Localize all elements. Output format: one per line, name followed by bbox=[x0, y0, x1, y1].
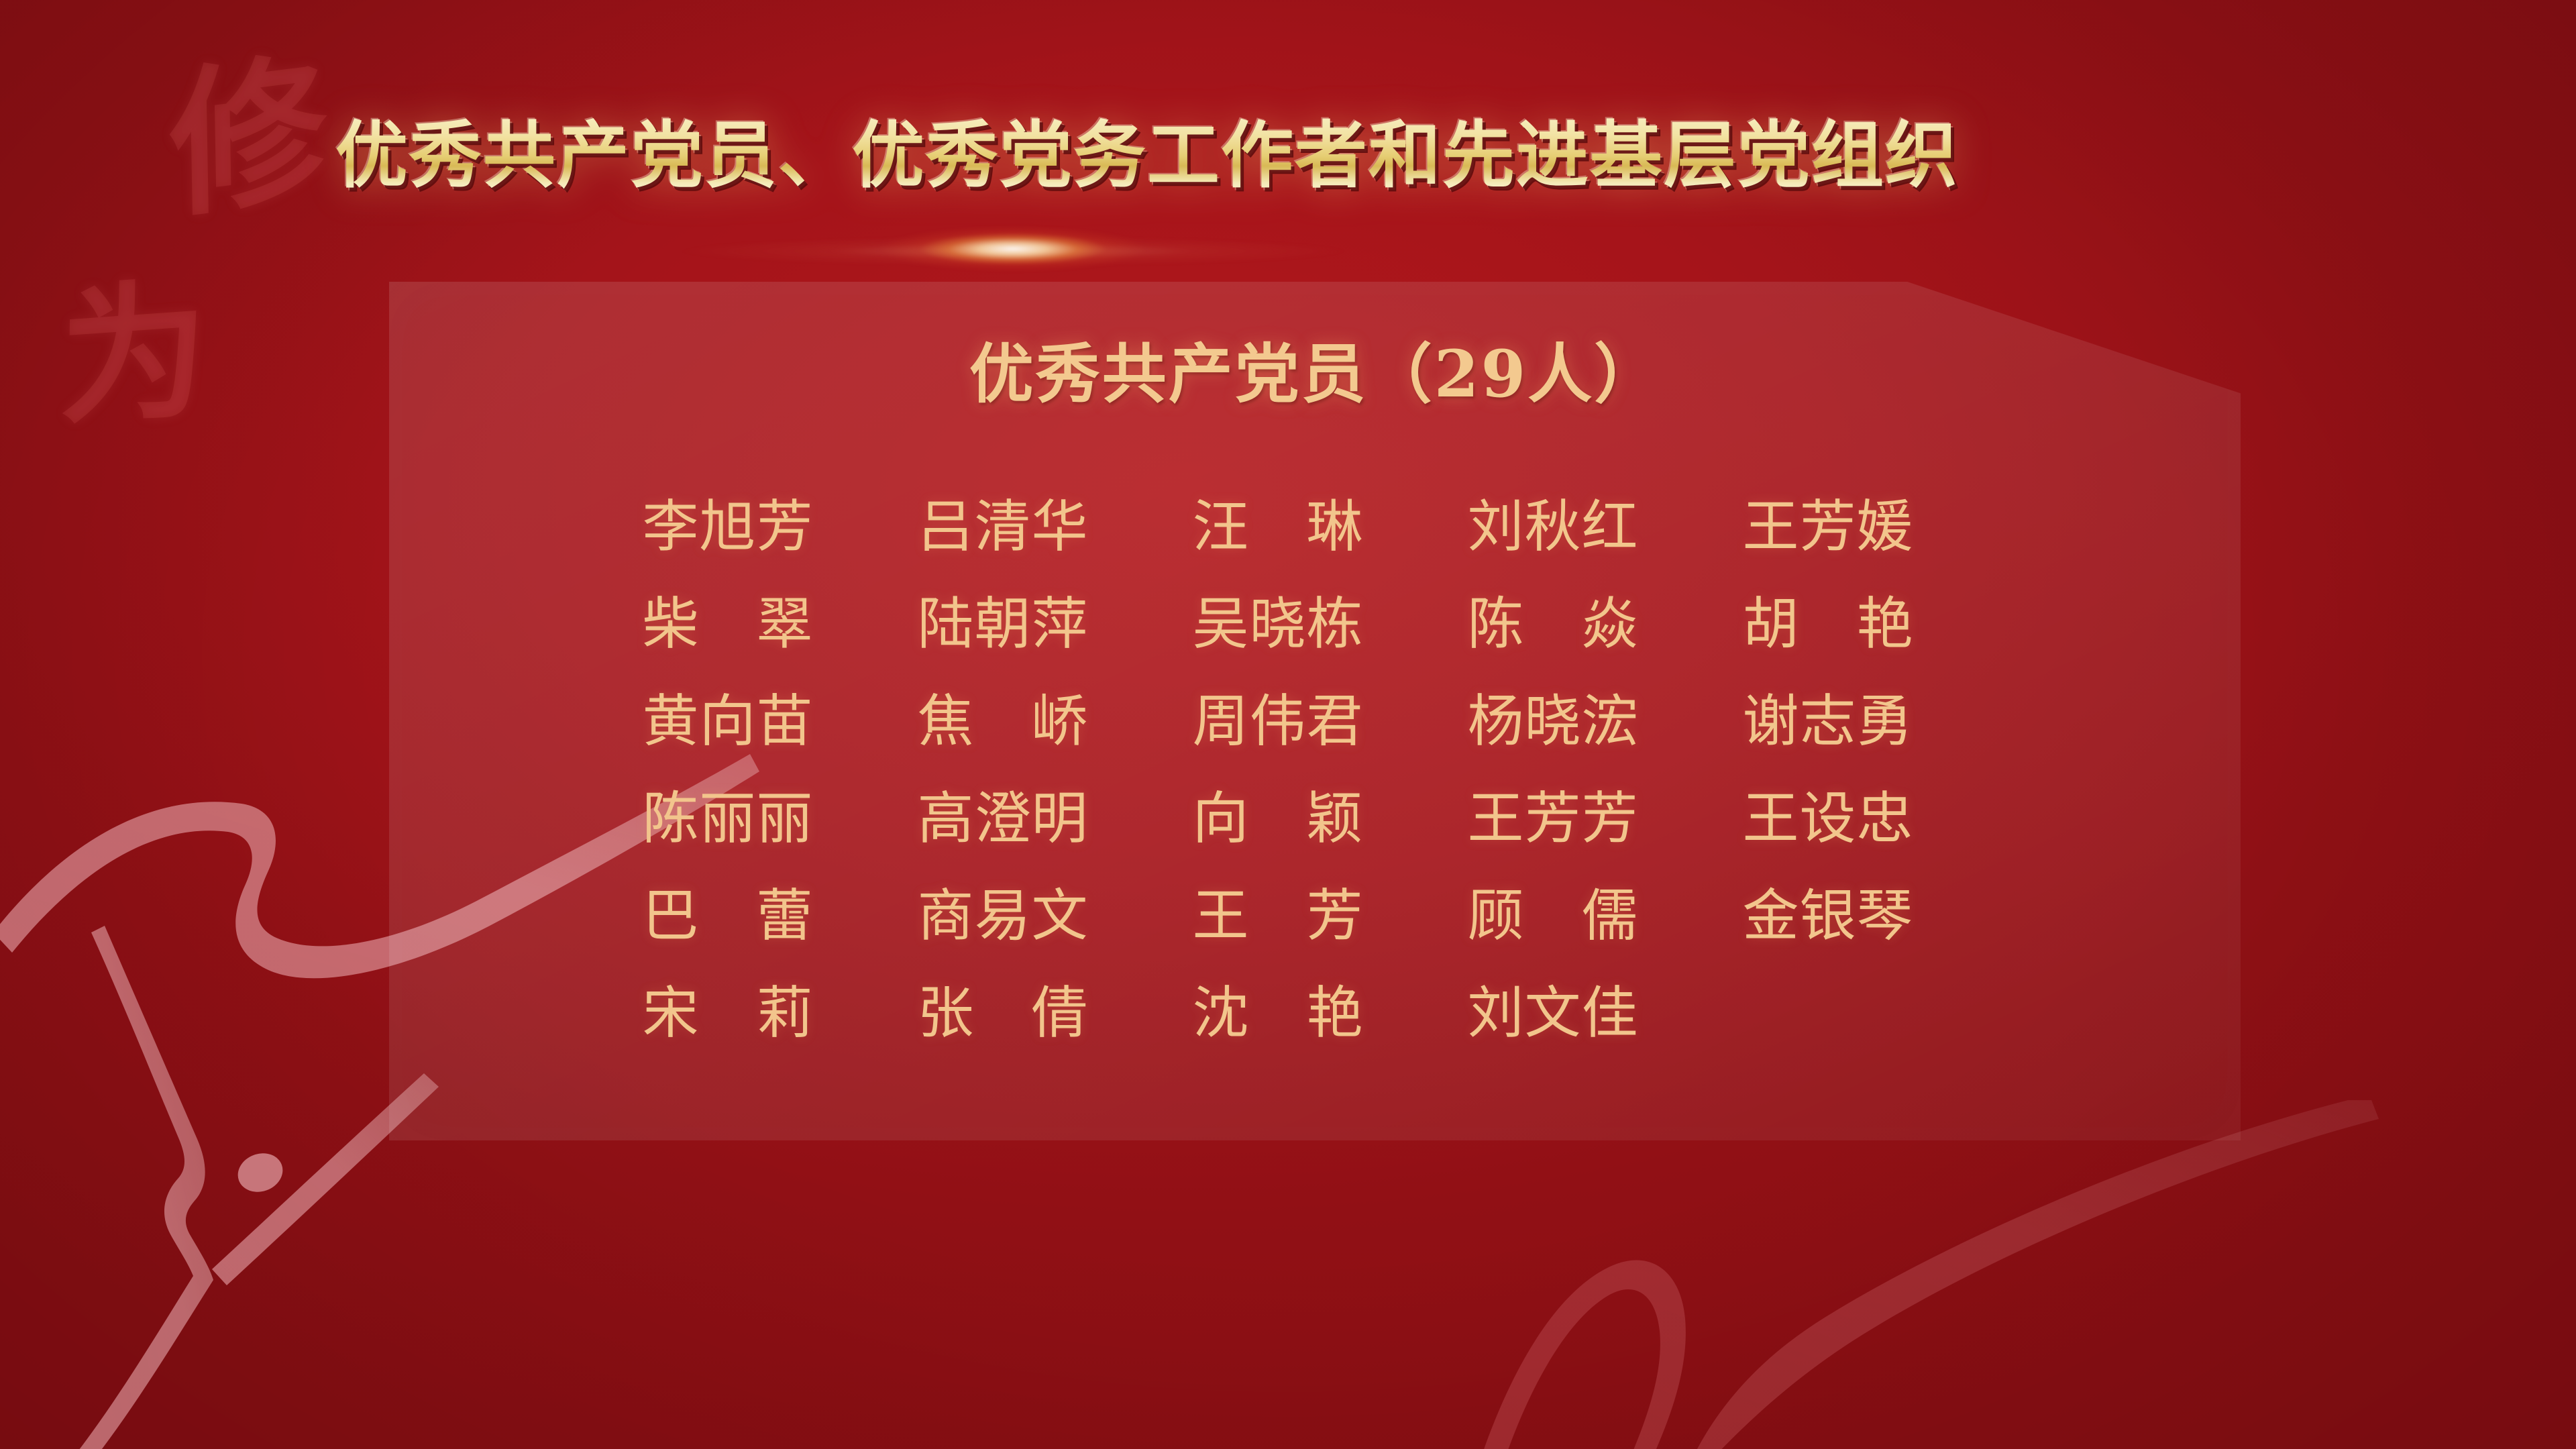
watermark-character-wei: 为 bbox=[58, 275, 209, 435]
honoree-name: 高澄明 bbox=[865, 790, 1140, 847]
page-title: 优秀共产党员、优秀党务工作者和先进基层党组织 bbox=[335, 114, 2267, 198]
honoree-name: 陈 焱 bbox=[1415, 596, 1690, 652]
name-row: 柴 翠 陆朝萍 吴晓栋 陈 焱 胡 艳 bbox=[590, 575, 2120, 672]
honoree-name: 周伟君 bbox=[1140, 693, 1415, 749]
honoree-name: 陆朝萍 bbox=[865, 596, 1140, 652]
name-row: 李旭芳 吕清华 汪 琳 刘秋红 王芳媛 bbox=[590, 478, 2120, 575]
honoree-name: 吕清华 bbox=[865, 498, 1140, 555]
honoree-name: 王芳媛 bbox=[1690, 498, 1966, 555]
presentation-slide: 修 为 优秀共产党员、优秀 bbox=[0, 0, 2576, 1449]
honoree-name: 杨晓浤 bbox=[1415, 693, 1690, 749]
name-row: 陈丽丽 高澄明 向 颖 王芳芳 王设忠 bbox=[590, 769, 2120, 867]
honoree-name: 向 颖 bbox=[1140, 790, 1415, 847]
honoree-name: 王设忠 bbox=[1690, 790, 1966, 847]
honoree-name: 刘秋红 bbox=[1415, 498, 1690, 555]
name-row: 巴 蕾 商易文 王 芳 顾 儒 金银琴 bbox=[590, 867, 2120, 964]
honoree-name: 王 芳 bbox=[1140, 888, 1415, 944]
honoree-name: 张 倩 bbox=[865, 985, 1140, 1041]
honoree-name: 刘文佳 bbox=[1415, 985, 1690, 1041]
section-heading: 优秀共产党员（29人） bbox=[389, 334, 2241, 415]
honoree-name: 王芳芳 bbox=[1415, 790, 1690, 847]
honoree-name: 金银琴 bbox=[1690, 888, 1966, 944]
honoree-name: 黄向苗 bbox=[590, 693, 865, 749]
name-row: 宋 莉 张 倩 沈 艳 刘文佳 bbox=[590, 964, 2120, 1061]
honoree-name: 柴 翠 bbox=[590, 596, 865, 652]
honoree-name: 商易文 bbox=[865, 888, 1140, 944]
honoree-name: 谢志勇 bbox=[1690, 693, 1966, 749]
honoree-name: 宋 莉 bbox=[590, 985, 865, 1041]
honoree-name: 汪 琳 bbox=[1140, 498, 1415, 555]
ribbon-swoosh-decoration-right bbox=[1449, 1100, 2576, 1449]
honoree-name-grid: 李旭芳 吕清华 汪 琳 刘秋红 王芳媛 柴 翠 陆朝萍 吴晓栋 陈 焱 胡 艳 … bbox=[590, 478, 2120, 1061]
honoree-name: 陈丽丽 bbox=[590, 790, 865, 847]
honoree-name: 巴 蕾 bbox=[590, 888, 865, 944]
honoree-name: 顾 儒 bbox=[1415, 888, 1690, 944]
honoree-name: 李旭芳 bbox=[590, 498, 865, 555]
honoree-name: 胡 艳 bbox=[1690, 596, 1966, 652]
honoree-name: 沈 艳 bbox=[1140, 985, 1415, 1041]
honoree-name: 吴晓栋 bbox=[1140, 596, 1415, 652]
honoree-name: 焦 峤 bbox=[865, 693, 1140, 749]
name-row: 黄向苗 焦 峤 周伟君 杨晓浤 谢志勇 bbox=[590, 672, 2120, 769]
title-band: 优秀共产党员、优秀党务工作者和先进基层党组织 bbox=[0, 114, 2576, 215]
